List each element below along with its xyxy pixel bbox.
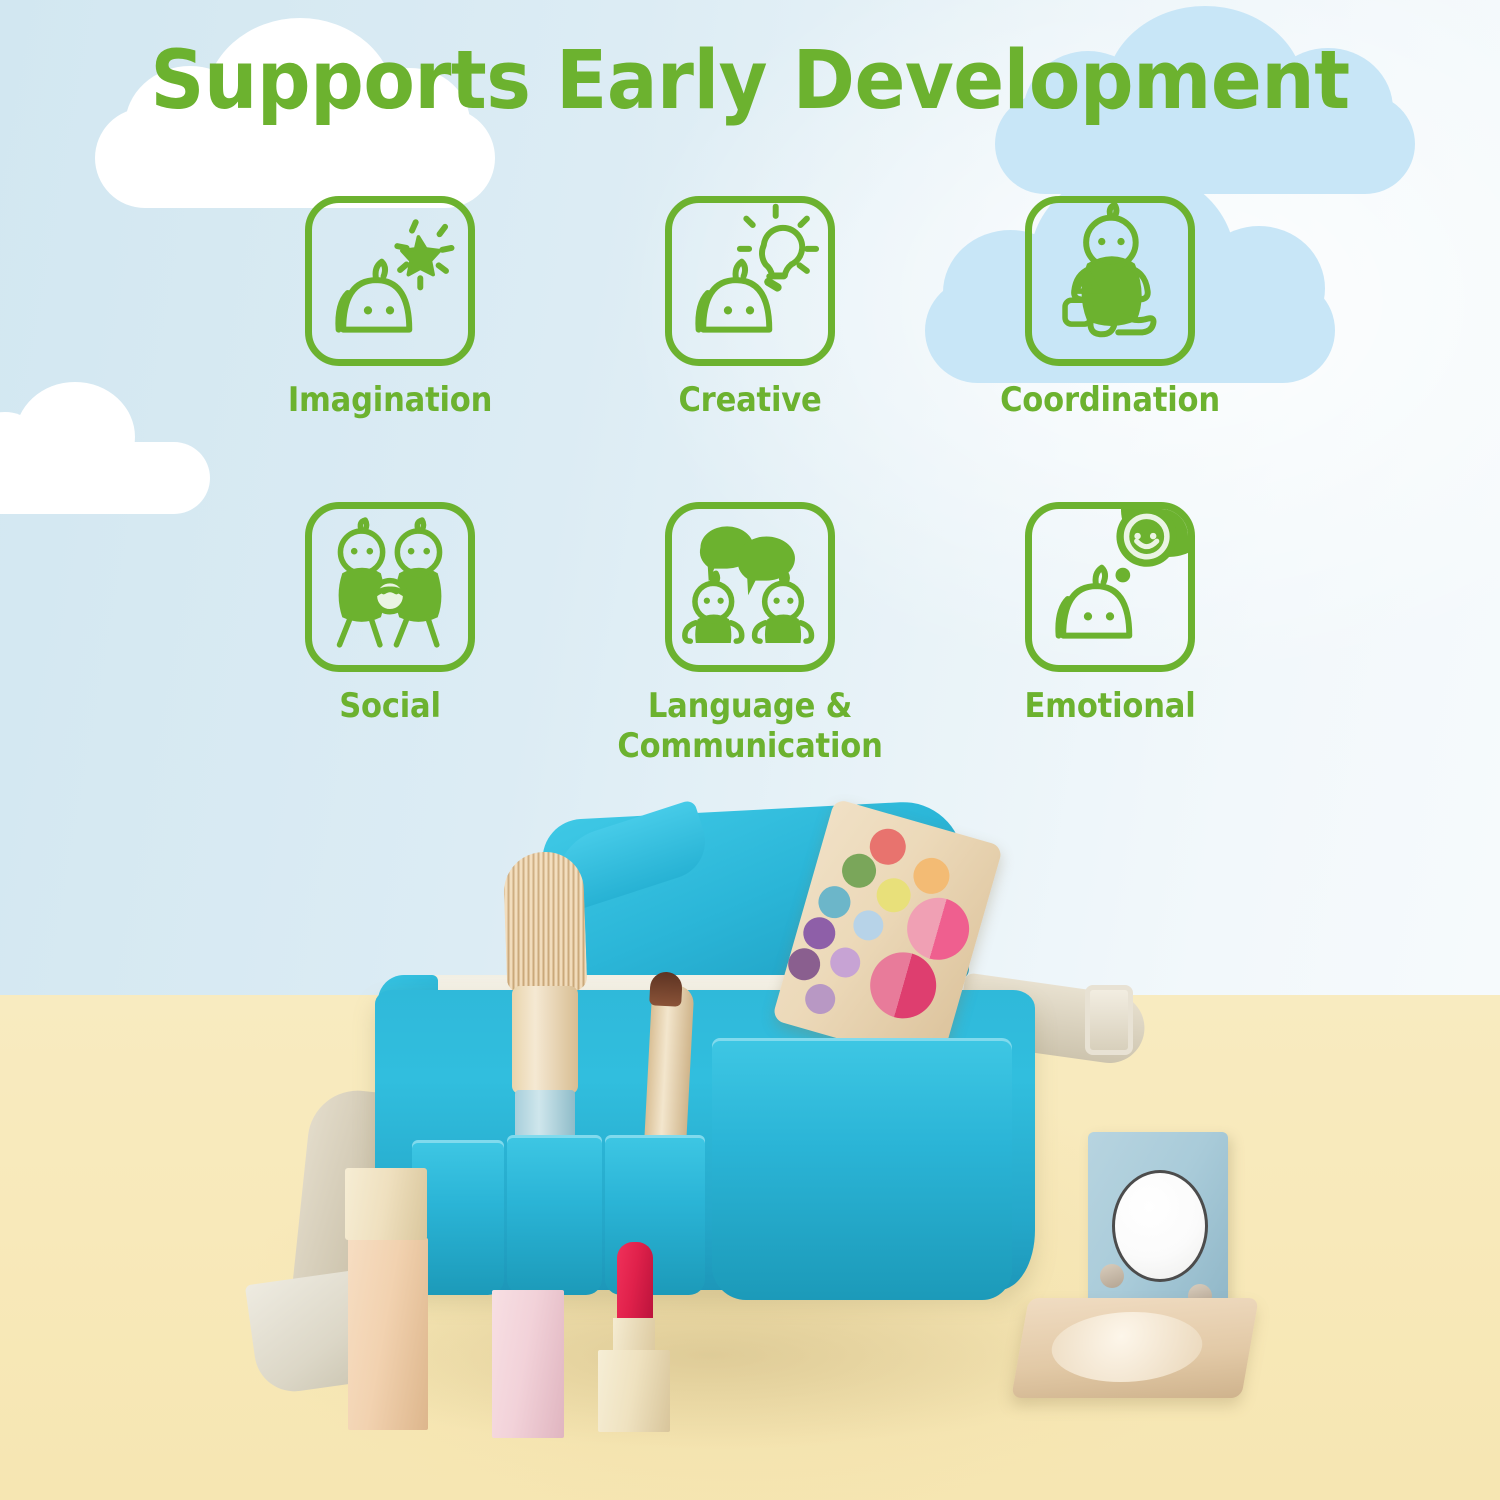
benefit-label: Coordination	[1000, 380, 1220, 420]
benefit-label: Creative	[678, 380, 821, 420]
benefit-creative[interactable]: Creative	[570, 196, 930, 420]
benefits-row-2: Social	[210, 502, 1290, 766]
bag-large-pocket	[712, 1038, 1012, 1300]
baby-head-with-star-icon	[305, 196, 475, 366]
eyeliner-pencil	[644, 984, 695, 1156]
benefit-label: Emotional	[1024, 686, 1195, 726]
blush-block	[492, 1290, 564, 1438]
benefit-language-communication[interactable]: Language & Communication	[570, 502, 930, 766]
seated-baby-with-blocks-icon	[1025, 196, 1195, 366]
palette-dot	[850, 907, 887, 944]
benefit-coordination[interactable]: Coordination	[930, 196, 1290, 420]
benefit-label-line-1: Language &	[648, 686, 852, 726]
palette-dot	[873, 874, 915, 916]
promo-graphic: Supports Early Development	[0, 0, 1500, 1500]
bag-buckle	[1085, 985, 1133, 1055]
bag-pocket	[507, 1135, 602, 1295]
benefit-label-line-2: Communication	[617, 726, 882, 766]
eyeliner-pencil-tip	[649, 971, 683, 1007]
foundation-bottle-body	[348, 1238, 428, 1430]
baby-head-with-lightbulb-icon	[665, 196, 835, 366]
palette-dot	[815, 882, 855, 922]
two-babies-sharing-ball-icon	[305, 502, 475, 672]
baby-head-with-smiley-thought-bubble-icon	[1025, 502, 1195, 672]
benefit-emotional[interactable]: Emotional	[930, 502, 1290, 766]
compact-mirror-lid	[1088, 1132, 1228, 1317]
palette-dot	[909, 854, 954, 899]
palette-dot	[800, 913, 840, 953]
lipstick-base	[598, 1350, 670, 1432]
page-title: Supports Early Development	[0, 38, 1500, 125]
blush-brush-bristles	[503, 851, 588, 994]
palette-dot	[802, 980, 839, 1017]
palette-dot	[827, 944, 864, 981]
benefits-row-1: Imagination	[210, 196, 1290, 420]
palette-dot	[784, 944, 824, 984]
two-babies-with-speech-bubbles-icon	[665, 502, 835, 672]
benefits-grid: Imagination	[210, 196, 1290, 766]
cloud-mid-left	[0, 382, 210, 512]
blush-brush-handle	[512, 986, 578, 1094]
benefit-label: Social	[339, 686, 441, 726]
benefit-label: Language & Communication	[617, 686, 882, 766]
benefit-imagination[interactable]: Imagination	[210, 196, 570, 420]
benefit-label: Imagination	[288, 380, 492, 420]
product-photo: PlanToys®	[0, 790, 1500, 1500]
foundation-bottle-cap	[345, 1168, 427, 1240]
benefit-social[interactable]: Social	[210, 502, 570, 766]
